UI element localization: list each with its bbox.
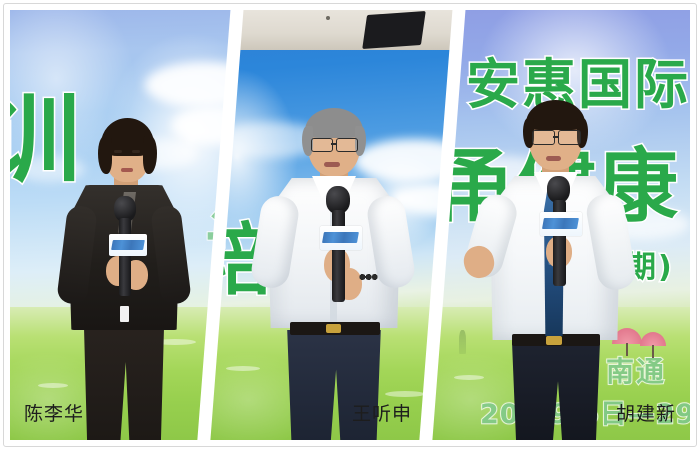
speaker-hair-side — [143, 136, 157, 174]
belt-buckle — [326, 324, 341, 333]
eyeglasses-icon — [311, 138, 333, 152]
panel-caption-left: 陈李华 — [24, 399, 84, 426]
eyeglasses-bridge — [553, 136, 558, 138]
speaker-mouth — [324, 162, 340, 167]
speaker-mouth — [546, 156, 561, 161]
speaker-eye — [114, 150, 122, 153]
panel-caption-middle: 王听申 — [352, 399, 412, 426]
collage-panels: 训 训 — [10, 10, 690, 440]
eyeglasses-icon — [558, 130, 581, 145]
speaker-hair-side — [98, 136, 112, 174]
microphone-body — [119, 218, 131, 296]
eyeglasses-bridge — [331, 143, 336, 145]
photo-collage-frame: 训 训 — [0, 0, 700, 459]
eyeglasses-icon — [336, 138, 358, 152]
broadcaster-logo-icon — [322, 232, 359, 243]
collage-panel-right: 安惠国际 甬健康 期) 南通 201 9 6日—29 — [428, 10, 690, 440]
microphone-logo-flag — [540, 212, 582, 236]
speaker-legs — [506, 342, 606, 440]
belt-buckle — [546, 336, 562, 345]
speaker-badge — [120, 306, 129, 322]
microphone-logo-flag — [320, 226, 362, 250]
broadcaster-logo-icon — [542, 218, 579, 229]
microphone-logo-flag — [109, 234, 147, 256]
wrist-beads — [358, 272, 380, 282]
speaker-figure-right — [428, 10, 690, 440]
panel-caption-right: 胡建新 — [616, 399, 676, 426]
broadcaster-logo-icon — [111, 240, 145, 250]
speaker-eye — [132, 150, 140, 153]
microphone-head-icon — [547, 176, 570, 203]
eyeglasses-icon — [532, 130, 555, 145]
microphone-body — [332, 210, 345, 302]
speaker-mouth — [121, 168, 133, 172]
